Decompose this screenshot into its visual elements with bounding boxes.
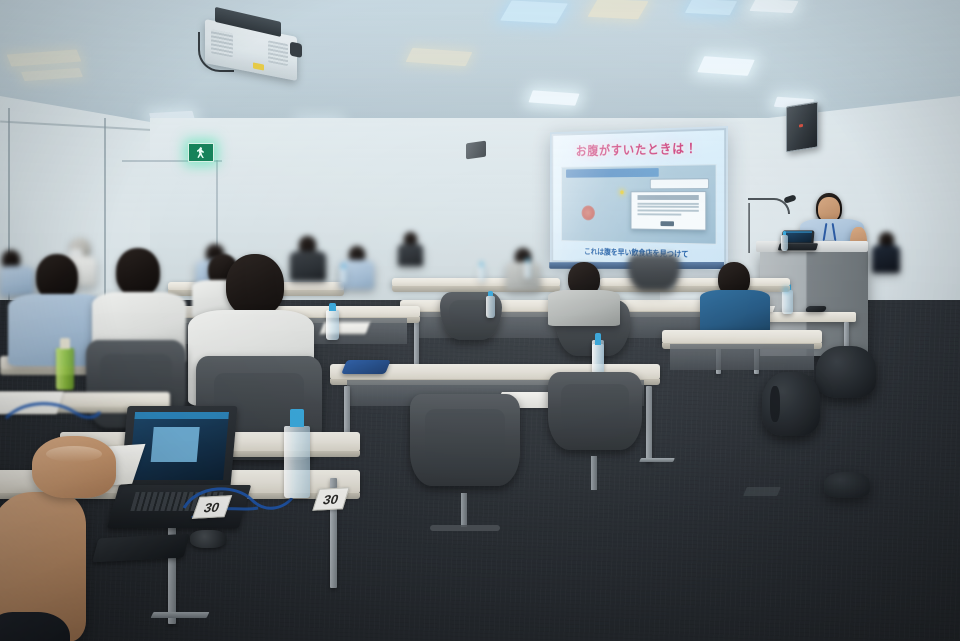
- bottle-cap: [342, 264, 346, 268]
- projector-vent: [211, 29, 233, 57]
- laptop-titlebar: [785, 231, 813, 232]
- table-foot: [151, 612, 210, 618]
- slide-dialog-box: [631, 191, 706, 230]
- backpack: [816, 346, 876, 398]
- dialog-text-line: [638, 210, 699, 212]
- table-row: [662, 330, 822, 344]
- chair-back-inner: [425, 409, 504, 470]
- bottle-cap: [329, 303, 336, 311]
- attendee: [872, 232, 902, 272]
- backpack-strap: [770, 386, 780, 422]
- table-foot: [639, 458, 675, 462]
- attendee: [398, 232, 424, 264]
- running-man-glyph: [197, 147, 206, 158]
- bottle-cap: [60, 338, 70, 349]
- bottle-cap: [526, 258, 530, 262]
- chair-post: [591, 456, 597, 490]
- projector-lens: [290, 42, 302, 58]
- attendee: [700, 262, 772, 324]
- water-bottle: [326, 310, 339, 340]
- water-bottle: [592, 344, 604, 374]
- seminar-room-photo: お腹がすいたときは！ これは腹を早い飲食店を見つけて: [0, 0, 960, 641]
- green-tea-bottle: [56, 348, 74, 390]
- attendee-torso: [548, 290, 620, 326]
- slide-search-box: [650, 179, 710, 190]
- projector-sticker: [253, 62, 264, 70]
- ceiling-light-panel: [749, 0, 798, 13]
- tablet-device: [805, 306, 827, 312]
- attendee: [548, 262, 622, 318]
- floor-outlet: [743, 487, 781, 496]
- attendee-torso: [398, 244, 423, 266]
- slide-title: お腹がすいたときは！: [559, 137, 716, 159]
- water-bottle: [478, 266, 485, 282]
- ceiling-light-panel: [697, 56, 755, 76]
- water-bottle: [782, 292, 790, 311]
- lanyard: [4, 396, 104, 432]
- chair: [410, 394, 520, 486]
- dialog-text-line: [638, 206, 699, 208]
- ceiling-light-panel: [500, 0, 568, 23]
- attendee-torso: [506, 262, 540, 291]
- slide-highlight-dot: [621, 191, 624, 195]
- slide-navbar: [566, 168, 659, 178]
- water-bottle: [781, 235, 788, 251]
- bottle-cap: [290, 409, 305, 428]
- keychain: [190, 530, 226, 548]
- chair-back: [628, 254, 680, 290]
- projected-slide: お腹がすいたときは！ これは腹を早い飲食店を見つけて: [553, 130, 724, 266]
- projection-screen: お腹がすいたときは！ これは腹を早い飲食店を見つけて: [550, 126, 728, 270]
- slide-map-marker-icon: [582, 205, 595, 220]
- dialog-header: [638, 195, 699, 200]
- wall-speaker: [466, 141, 486, 160]
- projector-vent: [268, 40, 288, 66]
- foreground-attendee: [0, 436, 120, 641]
- ceiling-light-panel: [685, 0, 737, 15]
- dialog-text-line: [638, 202, 699, 204]
- dialog-button: [660, 222, 673, 227]
- wall-speaker: [786, 101, 818, 152]
- bottle-cap: [595, 337, 602, 345]
- chair-post: [461, 493, 467, 527]
- table-leg: [646, 386, 652, 462]
- attendee-head: [116, 248, 160, 296]
- backpack: [824, 472, 870, 498]
- table-top: [662, 330, 822, 344]
- bottle-cap: [784, 287, 788, 292]
- laptop-screen: [784, 231, 812, 242]
- bottle-cap: [783, 231, 787, 235]
- pencil-case: [341, 360, 391, 374]
- chair-back: [410, 394, 520, 486]
- speaker-led: [799, 124, 803, 128]
- laptop-titlebar: [134, 412, 229, 419]
- water-bottle: [486, 296, 495, 318]
- chair-back-inner: [561, 384, 629, 435]
- table-leg: [414, 318, 419, 368]
- chair-back: [548, 372, 642, 450]
- water-bottle: [340, 268, 347, 284]
- chair: [628, 254, 680, 290]
- attendee-head: [226, 254, 284, 316]
- water-bottle: [524, 262, 531, 279]
- hand-highlight: [46, 446, 102, 462]
- bottle-cap: [488, 291, 493, 297]
- table-modesty-panel: [670, 344, 814, 370]
- dialog-text-line: [638, 213, 681, 215]
- microphone-stand: [748, 203, 750, 253]
- water-bottle: [284, 426, 310, 498]
- chair: [548, 372, 642, 450]
- exit-sign-icon: [188, 143, 214, 162]
- laptop-window: [151, 427, 200, 463]
- attendee-torso: [872, 245, 900, 273]
- chair-base: [430, 525, 500, 531]
- backpack: [762, 372, 820, 436]
- bottle-cap: [480, 262, 484, 266]
- attendee-torso: [700, 290, 770, 332]
- ceiling-light-panel: [588, 0, 649, 19]
- slide-content-area: [561, 164, 717, 244]
